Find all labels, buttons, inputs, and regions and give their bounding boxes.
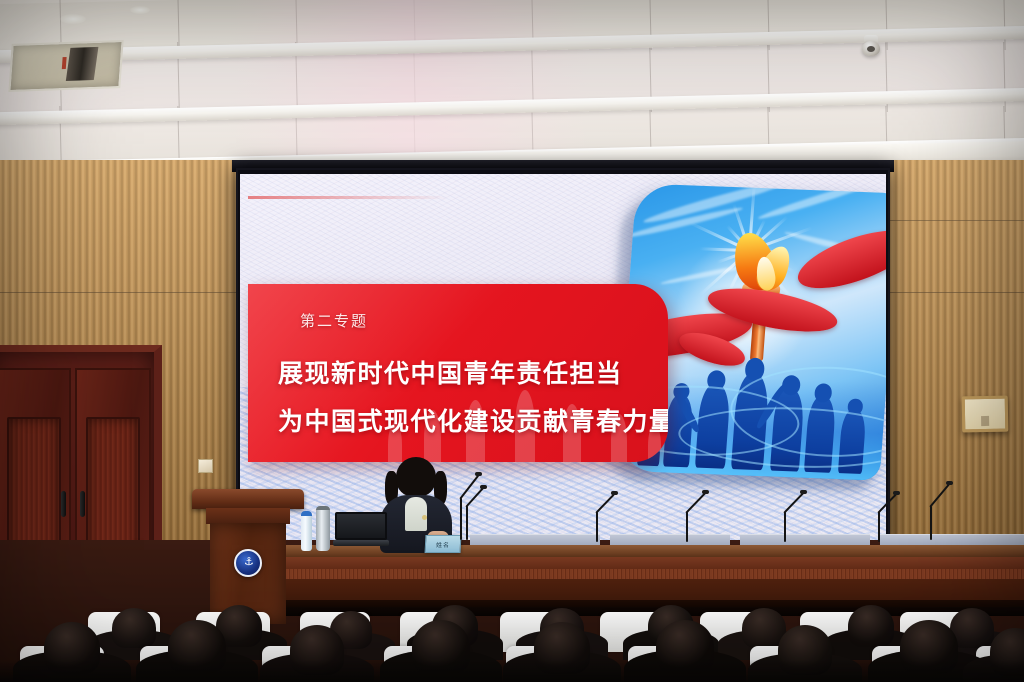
podium-neck [206, 508, 290, 524]
laptop-base [333, 540, 389, 546]
name-card-text: 姓名 [426, 536, 461, 552]
podium-emblem-icon: ⚓ [234, 549, 262, 577]
laptop-lid [335, 512, 387, 540]
foreground-shadow [0, 660, 1024, 682]
microphone-neck [878, 512, 880, 542]
gooseneck-microphone [784, 512, 788, 542]
desk-fluted-trim [272, 569, 1024, 579]
audience-head [848, 605, 894, 647]
gooseneck-microphone [466, 506, 470, 540]
conference-hall-scene: 第二专题 展现新时代中国青年责任担当 为中国式现代化建设贡献青春力量 ⚓ [0, 0, 1024, 682]
gooseneck-microphone [460, 498, 464, 540]
speaker-shirt [405, 497, 427, 531]
microphone-neck [596, 512, 598, 542]
gooseneck-microphone [596, 512, 600, 542]
gooseneck-microphone [878, 512, 882, 542]
audience-head [112, 608, 156, 648]
dome-camera-icon [862, 35, 880, 57]
wall-plaque [962, 396, 1009, 433]
screen-accent-line [248, 196, 448, 199]
name-card: 姓名 [425, 535, 462, 553]
microphone-capsule [480, 485, 487, 489]
microphone-neck [784, 512, 786, 542]
podium-emblem-glyph: ⚓ [244, 556, 253, 569]
ac-vent-slot [66, 47, 99, 82]
microphone-neck [930, 506, 932, 540]
microphone-capsule [611, 491, 618, 495]
dome-camera-lens [867, 46, 875, 52]
slide-subtitle: 第二专题 [300, 310, 368, 331]
door-handle-icon[interactable] [61, 491, 66, 517]
speaker-hair [396, 457, 436, 497]
microphone-capsule [800, 490, 807, 494]
microphone-capsule [946, 481, 953, 485]
ceiling-downlight [60, 14, 86, 24]
ac-vent-indicator [61, 57, 66, 69]
gooseneck-microphone [930, 506, 934, 540]
microphone-neck [466, 506, 468, 540]
artwork-light-streak [642, 183, 790, 226]
microphone-capsule [893, 491, 900, 495]
laptop[interactable] [333, 512, 389, 546]
microphone-neck [686, 512, 688, 542]
door-handle-icon[interactable] [80, 491, 85, 517]
wall-plaque-mark [981, 416, 989, 426]
slide-red-banner: 第二专题 展现新时代中国青年责任担当 为中国式现代化建设贡献青春力量 [248, 284, 668, 462]
wall-switch[interactable] [198, 459, 213, 473]
podium-top [192, 489, 304, 509]
water-bottle [301, 511, 312, 551]
gooseneck-microphone [686, 512, 690, 542]
led-screen[interactable]: 第二专题 展现新时代中国青年责任担当 为中国式现代化建设贡献青春力量 [240, 174, 886, 542]
ac-vent [8, 40, 123, 92]
slide-title-line-2: 为中国式现代化建设贡献青春力量 [278, 402, 668, 438]
microphone-capsule [702, 490, 709, 494]
slide-title-line-1: 展现新时代中国青年责任担当 [278, 354, 623, 390]
flame-icon [739, 228, 792, 292]
microphone-neck [460, 498, 462, 540]
thermos [316, 506, 330, 551]
ceiling-downlight [130, 6, 150, 14]
